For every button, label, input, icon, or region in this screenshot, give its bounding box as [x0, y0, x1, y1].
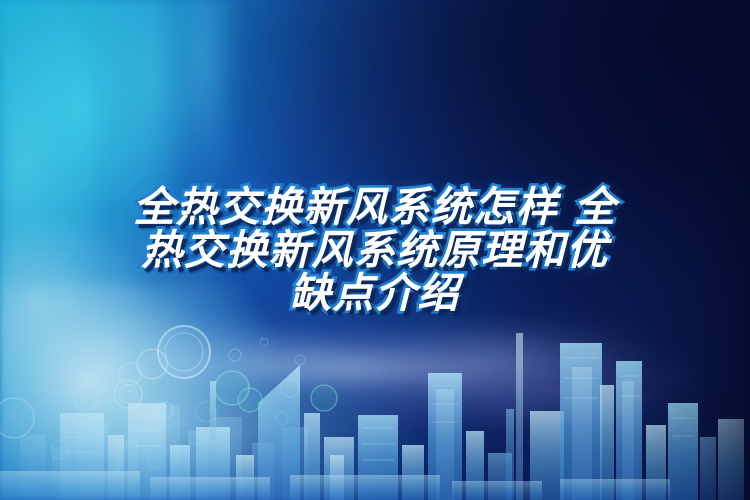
banner-image: 全热交换新风系统怎样 全 热交换新风系统原理和优 缺点介绍: [0, 0, 750, 500]
headline-line-3: 缺点介绍: [0, 272, 750, 315]
headline-line-2: 热交换新风系统原理和优: [0, 229, 750, 272]
headline-line-1: 全热交换新风系统怎样 全: [0, 186, 750, 229]
headline-title: 全热交换新风系统怎样 全 热交换新风系统原理和优 缺点介绍: [0, 186, 750, 315]
